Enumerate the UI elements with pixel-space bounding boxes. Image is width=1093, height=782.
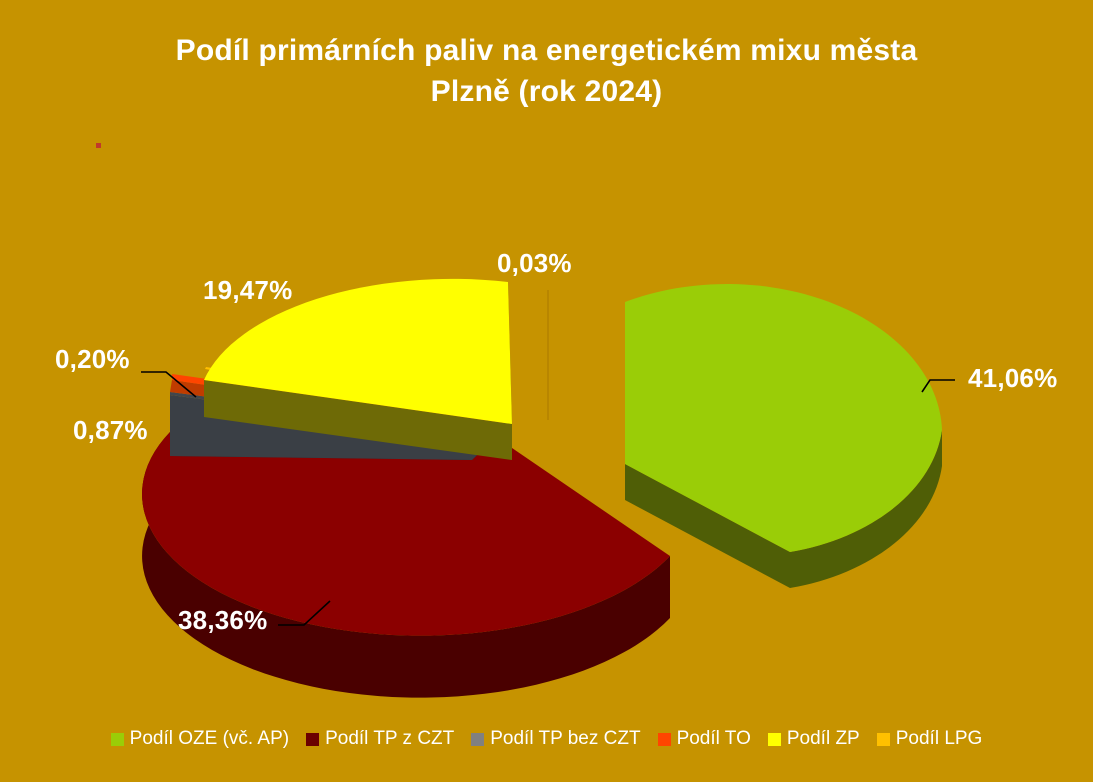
- legend-label-oze: Podíl OZE (vč. AP): [130, 729, 289, 749]
- legend-swatch-icon: [111, 733, 124, 746]
- legend-label-lpg: Podíl LPG: [896, 729, 983, 749]
- data-label-lpg: 0,03%: [497, 248, 572, 279]
- chart-legend: Podíl OZE (vč. AP) Podíl TP z CZT Podíl …: [0, 729, 1093, 749]
- legend-swatch-icon: [306, 733, 319, 746]
- legend-item-zp[interactable]: Podíl ZP: [768, 729, 860, 749]
- pie-graphic: [0, 0, 1093, 782]
- legend-label-tp-z-czt: Podíl TP z CZT: [325, 729, 454, 749]
- legend-item-oze[interactable]: Podíl OZE (vč. AP): [111, 729, 289, 749]
- data-label-to: 0,20%: [55, 344, 130, 375]
- data-label-tp-czt: 38,36%: [178, 605, 267, 636]
- legend-swatch-icon: [877, 733, 890, 746]
- legend-swatch-icon: [658, 733, 671, 746]
- legend-item-to[interactable]: Podíl TO: [658, 729, 751, 749]
- legend-item-tp-bez-czt[interactable]: Podíl TP bez CZT: [471, 729, 640, 749]
- legend-swatch-icon: [471, 733, 484, 746]
- legend-label-to: Podíl TO: [677, 729, 751, 749]
- data-label-oze: 41,06%: [968, 363, 1057, 394]
- legend-label-zp: Podíl ZP: [787, 729, 860, 749]
- pie-chart-figure: Podíl primárních paliv na energetickém m…: [0, 0, 1093, 782]
- data-label-zp: 19,47%: [203, 275, 292, 306]
- legend-item-tp-z-czt[interactable]: Podíl TP z CZT: [306, 729, 454, 749]
- legend-swatch-icon: [768, 733, 781, 746]
- legend-label-tp-bez-czt: Podíl TP bez CZT: [490, 729, 640, 749]
- data-label-tp-bezczt: 0,87%: [73, 415, 148, 446]
- legend-item-lpg[interactable]: Podíl LPG: [877, 729, 983, 749]
